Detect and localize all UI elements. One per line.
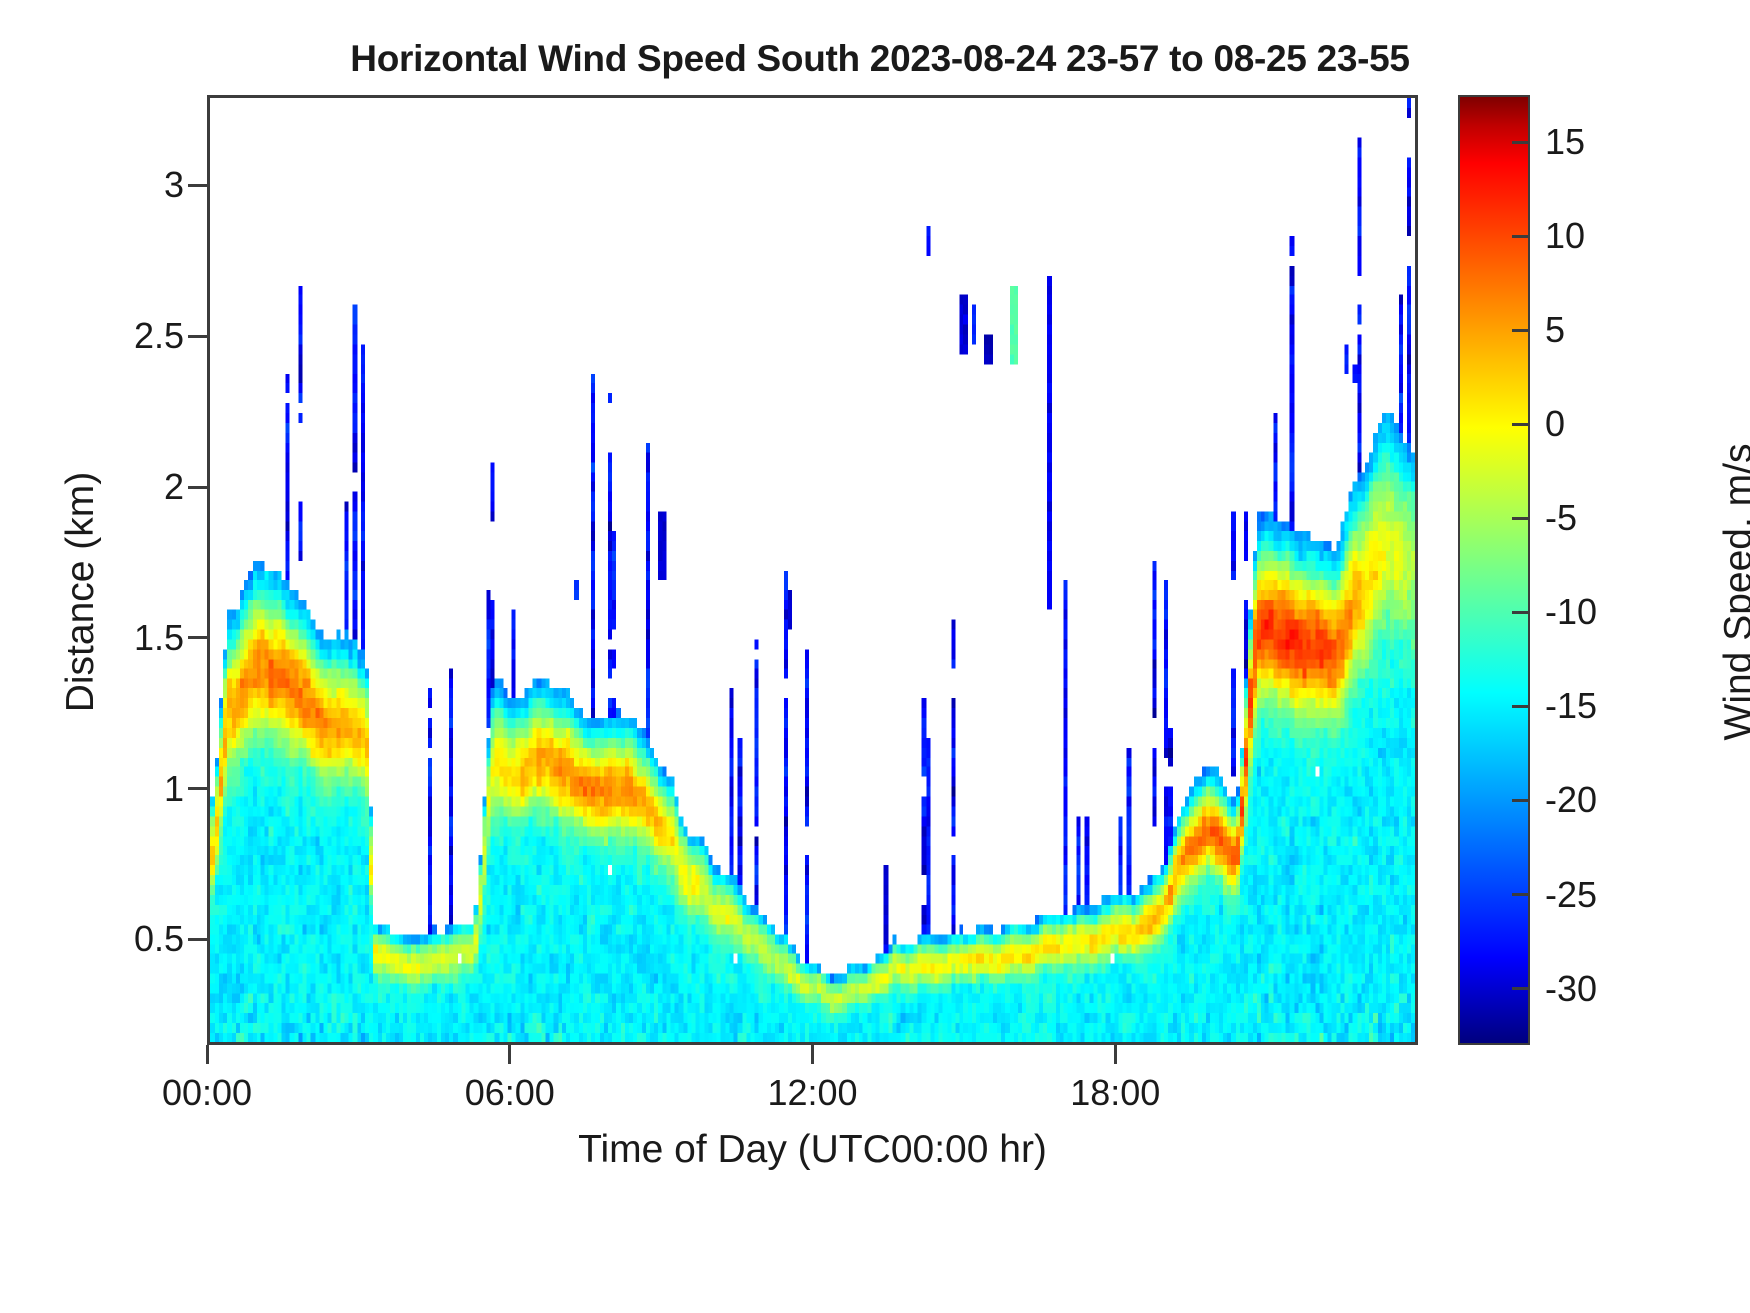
colorbar-tick-mark (1512, 893, 1530, 896)
y-tick-label: 1.5 (134, 617, 184, 659)
colorbar-tick-label: 5 (1545, 309, 1565, 351)
y-tick-label: 2 (164, 466, 184, 508)
x-tick-mark (811, 1045, 814, 1064)
y-tick-mark (188, 184, 207, 187)
plot-area (207, 95, 1418, 1045)
colorbar-tick-label: 15 (1545, 121, 1585, 163)
colorbar-label: Wind Speed, m/s (1717, 242, 1750, 942)
x-tick-mark (508, 1045, 511, 1064)
x-tick-label: 18:00 (1070, 1072, 1160, 1114)
colorbar-tick-label: 10 (1545, 215, 1585, 257)
colorbar-tick-mark (1512, 329, 1530, 332)
y-tick-label: 0.5 (134, 918, 184, 960)
colorbar-tick-label: -20 (1545, 779, 1597, 821)
x-tick-mark (206, 1045, 209, 1064)
wind-speed-heatmap (210, 98, 1415, 1042)
y-tick-mark (188, 335, 207, 338)
colorbar-tick-mark (1512, 799, 1530, 802)
y-tick-mark (188, 787, 207, 790)
colorbar-tick-label: 0 (1545, 403, 1565, 445)
colorbar-tick-label: -5 (1545, 497, 1577, 539)
colorbar-tick-mark (1512, 705, 1530, 708)
colorbar-tick-mark (1512, 423, 1530, 426)
x-tick-label: 00:00 (162, 1072, 252, 1114)
page-title: Horizontal Wind Speed South 2023-08-24 2… (0, 38, 1750, 80)
y-tick-mark (188, 486, 207, 489)
colorbar-tick-mark (1512, 987, 1530, 990)
figure-canvas: Horizontal Wind Speed South 2023-08-24 2… (0, 0, 1750, 1313)
x-tick-label: 12:00 (767, 1072, 857, 1114)
colorbar-tick-mark (1512, 611, 1530, 614)
y-tick-mark (188, 636, 207, 639)
colorbar-tick-mark (1512, 517, 1530, 520)
colorbar-tick-mark (1512, 141, 1530, 144)
y-tick-label: 1 (164, 768, 184, 810)
colorbar-tick-label: -10 (1545, 591, 1597, 633)
x-axis-label: Time of Day (UTC00:00 hr) (207, 1128, 1418, 1172)
colorbar-tick-mark (1512, 235, 1530, 238)
y-tick-label: 3 (164, 164, 184, 206)
x-tick-label: 06:00 (465, 1072, 555, 1114)
y-tick-label: 2.5 (134, 315, 184, 357)
colorbar-tick-label: -25 (1545, 874, 1597, 916)
colorbar-tick-label: -15 (1545, 685, 1597, 727)
colorbar-tick-label: -30 (1545, 968, 1597, 1010)
x-tick-mark (1114, 1045, 1117, 1064)
y-tick-mark (188, 938, 207, 941)
y-axis-label: Distance (km) (59, 292, 103, 892)
